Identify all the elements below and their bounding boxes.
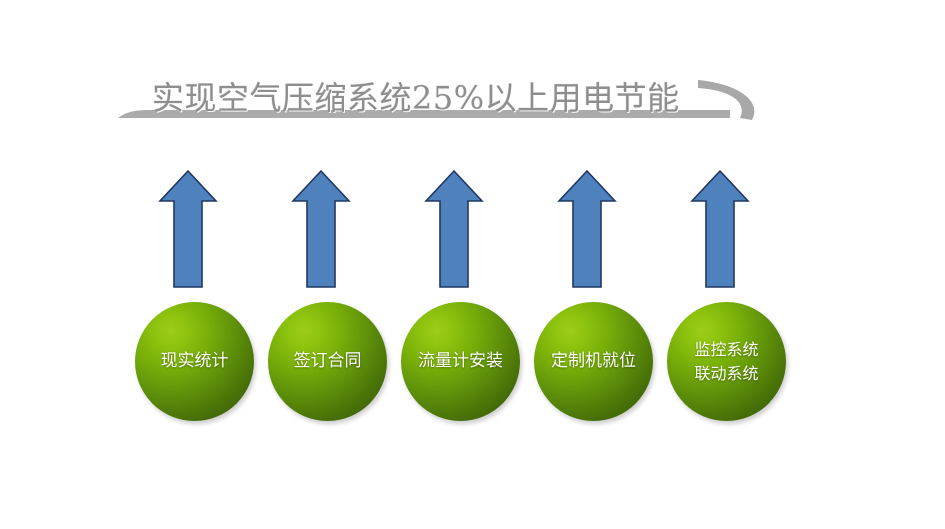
- step-circle-1[interactable]: 现实统计: [135, 302, 254, 421]
- up-arrow-icon-2: [290, 168, 352, 290]
- page-title: 实现空气压缩系统25%以上用电节能: [152, 78, 732, 118]
- up-arrow-icon-3: [423, 168, 485, 290]
- step-label-2: 签订合同: [290, 350, 366, 373]
- title-banner: 实现空气压缩系统25%以上用电节能: [0, 28, 800, 128]
- step-circle-row: 现实统计 签订合同 流量计安装 定制机就位 监控系统 联动系统: [135, 302, 795, 424]
- up-arrow-icon-4: [556, 168, 618, 290]
- arrow-row: [135, 168, 795, 293]
- step-label-4: 定制机就位: [547, 350, 640, 373]
- step-circle-5[interactable]: 监控系统 联动系统: [667, 302, 786, 421]
- slide-canvas: 实现空气压缩系统25%以上用电节能: [0, 0, 945, 529]
- step-label-1: 现实统计: [157, 350, 233, 373]
- step-label-3: 流量计安装: [414, 350, 507, 373]
- up-arrow-icon-1: [157, 168, 219, 290]
- step-circle-3[interactable]: 流量计安装: [401, 302, 520, 421]
- step-circle-2[interactable]: 签订合同: [268, 302, 387, 421]
- step-circle-4[interactable]: 定制机就位: [534, 302, 653, 421]
- step-label-5: 监控系统 联动系统: [690, 338, 762, 386]
- up-arrow-icon-5: [689, 168, 751, 290]
